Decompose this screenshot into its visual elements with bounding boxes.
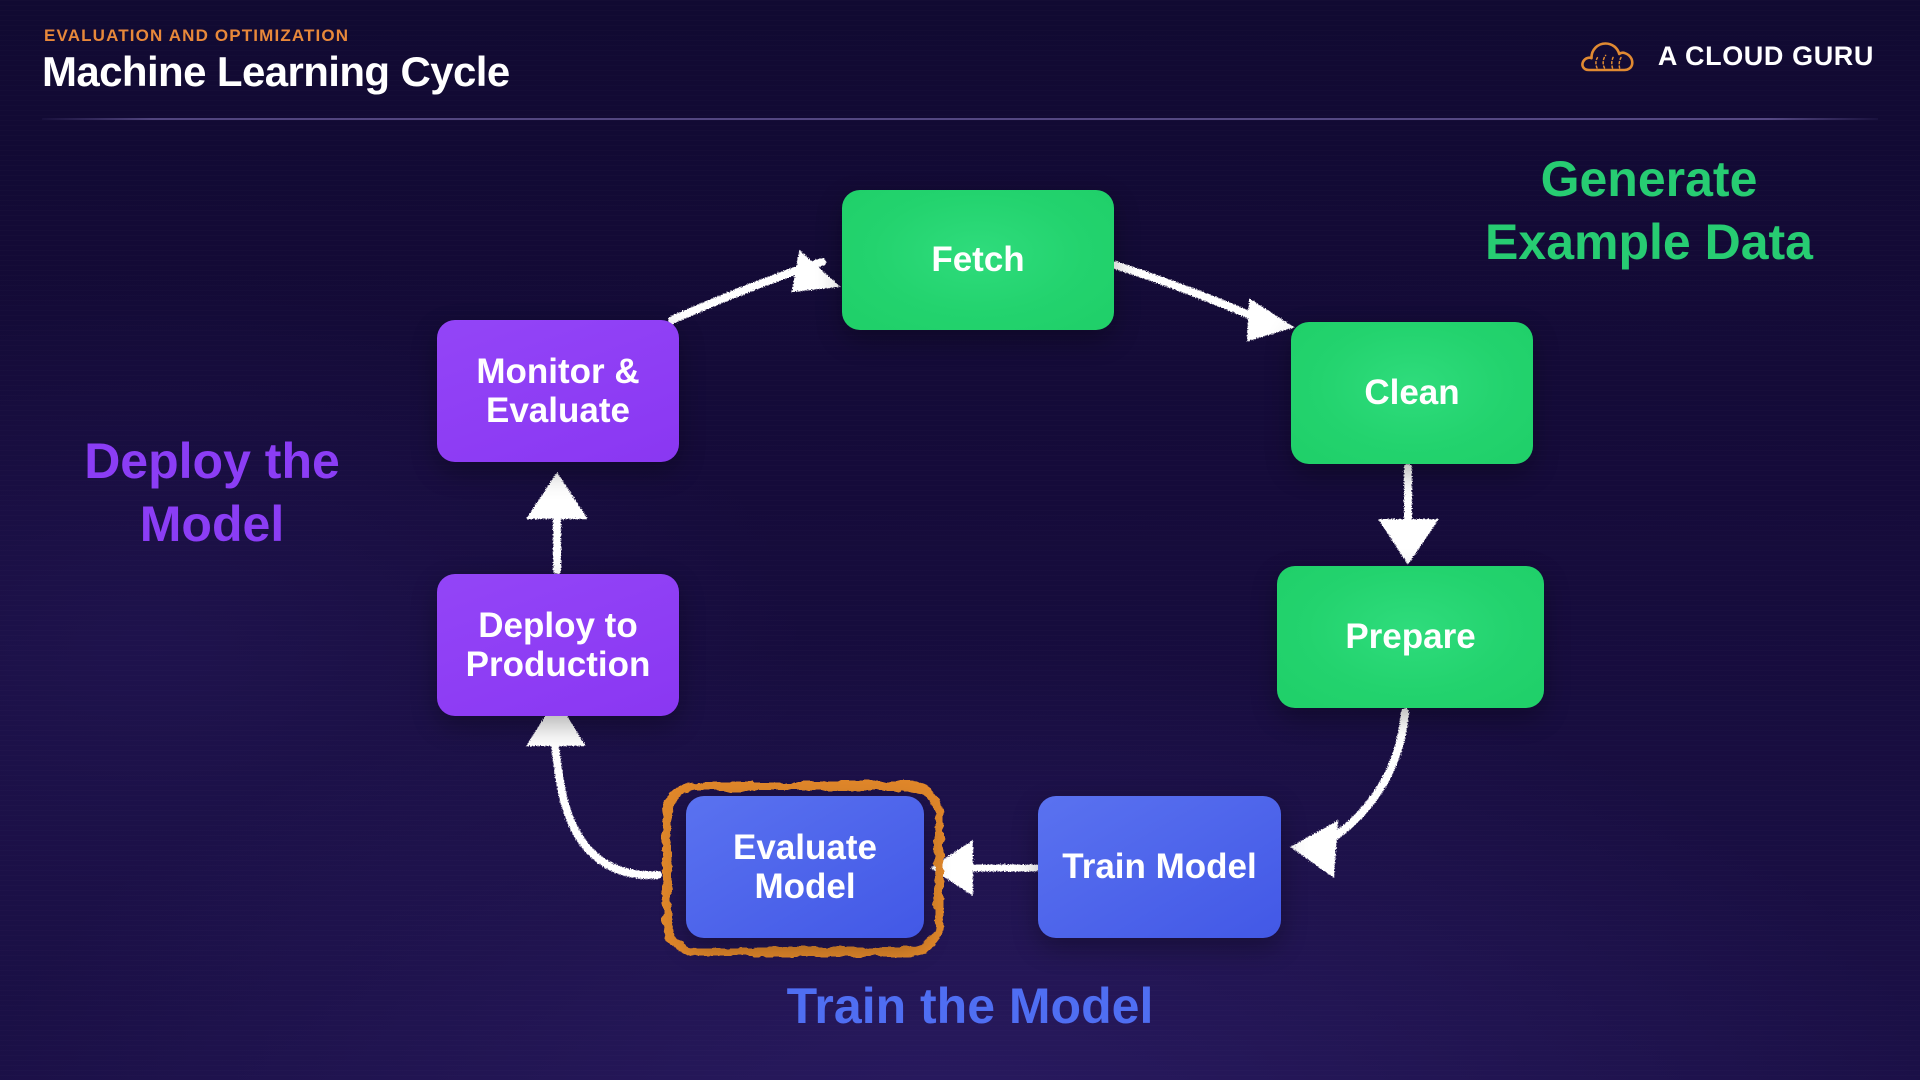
arrow-monitor-to-fetch <box>672 252 838 320</box>
node-monitor-and-evaluate[interactable]: Monitor & Evaluate <box>437 320 679 462</box>
section-eyebrow: EVALUATION AND OPTIMIZATION <box>44 26 349 46</box>
slide-header: EVALUATION AND OPTIMIZATION Machine Lear… <box>0 0 1920 122</box>
arrow-train-to-evaluate <box>932 842 1036 894</box>
node-prepare[interactable]: Prepare <box>1277 566 1544 708</box>
arrow-fetch-to-clean <box>1115 265 1292 340</box>
phase-label-train: Train the Model <box>660 975 1280 1038</box>
arrow-prepare-to-train <box>1292 712 1405 876</box>
node-evaluate-model[interactable]: Evaluate Model <box>686 796 924 938</box>
arrow-evaluate-to-deploy <box>528 700 658 875</box>
phase-label-generate: Generate Example Data <box>1414 148 1884 274</box>
node-clean[interactable]: Clean <box>1291 322 1533 464</box>
header-divider <box>42 118 1878 120</box>
brand-name: A CLOUD GURU <box>1658 41 1874 72</box>
brand-logo: A CLOUD GURU <box>1580 30 1874 82</box>
arrow-deploy-to-monitor <box>528 474 586 570</box>
node-deploy-to-production[interactable]: Deploy to Production <box>437 574 679 716</box>
arrow-clean-to-prepare <box>1380 468 1437 563</box>
phase-label-deploy: Deploy the Model <box>22 430 402 556</box>
page-title: Machine Learning Cycle <box>42 48 510 96</box>
node-train-model[interactable]: Train Model <box>1038 796 1281 938</box>
slide-canvas: EVALUATION AND OPTIMIZATION Machine Lear… <box>0 0 1920 1080</box>
node-fetch[interactable]: Fetch <box>842 190 1114 330</box>
cloud-icon <box>1580 34 1642 78</box>
